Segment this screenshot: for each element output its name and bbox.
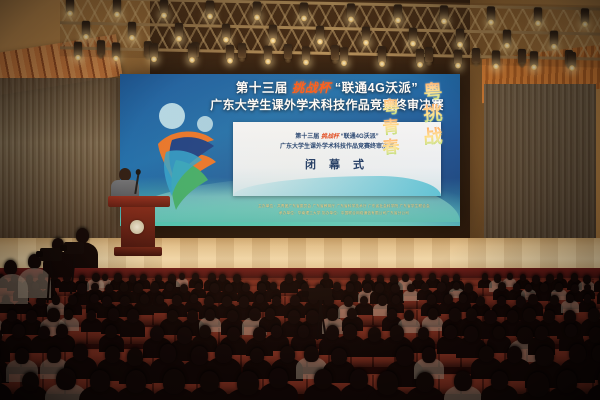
calligraphy-right-c2: 挑 xyxy=(415,103,450,128)
audience-member-head xyxy=(429,273,436,280)
stage-light xyxy=(347,3,355,18)
calligraphy-left-c2: 青 xyxy=(373,117,408,139)
audience-member-head xyxy=(557,370,577,392)
audience-member-head xyxy=(168,274,176,282)
audience-member-head xyxy=(525,284,532,292)
audience-member-head xyxy=(177,327,192,344)
audience-member-head xyxy=(407,284,415,293)
audience-member-head xyxy=(134,283,143,293)
audience-member-head xyxy=(90,370,110,393)
audience-member-head xyxy=(272,296,281,306)
audience-member-head xyxy=(180,284,188,293)
audience-member-head xyxy=(565,324,577,337)
stage-light xyxy=(238,43,246,58)
audience-member-head xyxy=(444,294,453,304)
audience-member-head xyxy=(583,275,591,284)
audience-member-head xyxy=(363,283,372,293)
audience-member-head xyxy=(543,310,555,323)
audience-member-head xyxy=(571,284,579,293)
audience-member-head xyxy=(377,371,398,394)
audience-member-head xyxy=(557,273,564,280)
banner-title-suffix: “联通4G沃派” xyxy=(335,81,418,95)
audience-member-head xyxy=(155,275,161,282)
audience-member-head xyxy=(571,273,578,281)
audience-member-head xyxy=(482,273,488,280)
audience-member-head xyxy=(56,324,68,338)
stage-light xyxy=(472,48,480,63)
audience-member-head xyxy=(237,371,259,395)
audience-member-head xyxy=(15,348,30,365)
audience-member-head xyxy=(120,282,129,292)
audience-member-head xyxy=(520,274,527,281)
audience-member-head xyxy=(404,310,414,322)
audience-member-head xyxy=(396,346,414,366)
audience-member-head xyxy=(391,284,400,294)
camera-crew-center xyxy=(300,288,350,354)
audience-member-head xyxy=(535,346,553,367)
calligraphy-left-c1: 粤 xyxy=(373,97,408,119)
audience-member-head xyxy=(453,274,460,282)
audience-member-head xyxy=(498,282,506,291)
audience-member-head xyxy=(365,274,371,281)
audience-member-head xyxy=(454,371,472,391)
audience-member-head xyxy=(163,369,185,393)
audience-member-head xyxy=(402,274,409,282)
stage-light xyxy=(362,27,370,42)
audience-member-head xyxy=(64,309,73,320)
audience-member-head xyxy=(108,308,120,321)
audience-member-head xyxy=(584,294,592,303)
audience-member-head xyxy=(464,283,473,293)
audience-member-head xyxy=(249,308,261,322)
audience-member-head xyxy=(285,274,293,283)
audience-member-head xyxy=(569,344,586,363)
stage-light xyxy=(503,30,511,45)
audience-member-head xyxy=(476,296,485,306)
audience-member-head xyxy=(421,283,428,291)
audience-member-head xyxy=(392,295,400,304)
audience-member-head xyxy=(566,294,575,304)
audience-member-head xyxy=(150,282,159,292)
stage-light xyxy=(425,47,433,62)
stage-light xyxy=(456,29,464,44)
stage-light xyxy=(206,0,214,15)
audience-member-head xyxy=(564,310,576,324)
audience-member-head xyxy=(375,283,384,293)
calligraphy-right-c1: 粤 xyxy=(415,81,450,106)
audience-member-head xyxy=(250,348,264,363)
audience-member-head xyxy=(179,273,185,280)
banner-title-cup: 挑战杯 xyxy=(292,81,331,95)
audience-member-head xyxy=(493,326,505,339)
podium-top xyxy=(108,196,170,207)
panel-cup: 挑战杯 xyxy=(321,134,339,140)
stage-light xyxy=(340,47,348,62)
stage-light xyxy=(302,46,310,61)
video-camera-icon xyxy=(64,242,84,254)
audience-member-head xyxy=(265,308,275,320)
audience-member-head xyxy=(127,348,143,366)
sponsor-line-2: 承办单位：华南理工大学 协办单位：中国联合网络通信有限公司广东省分公司 xyxy=(238,210,450,217)
stage-light xyxy=(175,23,183,38)
stage-light xyxy=(581,8,589,23)
stage-light xyxy=(378,48,386,63)
stage-light xyxy=(112,42,120,57)
audience-member-head xyxy=(453,282,460,290)
stage-light xyxy=(284,44,292,59)
audience-member-head xyxy=(428,308,438,319)
audience-member-head xyxy=(140,294,149,304)
audience-member-head xyxy=(256,294,264,303)
audience-member-head xyxy=(126,370,146,393)
audience-member-head xyxy=(555,283,562,291)
stage-light xyxy=(534,7,542,22)
panel-wave-graphic xyxy=(233,176,441,196)
audience-member-head xyxy=(167,310,178,323)
audience-member-head xyxy=(258,283,266,292)
audience-member-head xyxy=(449,308,461,322)
audience-member-head xyxy=(242,283,250,292)
audience-member-head xyxy=(588,308,600,322)
audience-member-head xyxy=(269,368,287,389)
video-camera-icon xyxy=(40,248,62,261)
stage-light xyxy=(269,25,277,40)
panel-prefix: 第十三届 xyxy=(295,134,319,140)
stage-backdrop-banner: 第十三届 挑战杯 “联通4G沃派” 广东大学生课外学术科技作品竞赛终审决赛 第十… xyxy=(120,74,460,226)
stage-light xyxy=(518,49,526,64)
audience-member-head xyxy=(210,283,219,293)
calligraphy-right-c3: 战 xyxy=(415,126,450,151)
audience-member-head xyxy=(390,325,404,341)
audience-member-head xyxy=(459,294,467,303)
audience-member-head xyxy=(127,309,139,323)
audience-member-head xyxy=(507,310,519,323)
audience-member-head xyxy=(314,369,332,389)
audience-member-head xyxy=(22,372,39,391)
audience-member-head xyxy=(288,310,300,323)
stage-light xyxy=(222,24,230,39)
audience-member-head xyxy=(172,295,182,306)
audience-member-head xyxy=(540,283,548,292)
audience-member-head xyxy=(387,309,397,320)
banner-sponsor-lines: 主办单位：共青团广东省委员会 广东省教育厅 广东省科学技术厅 广东省社会科学院 … xyxy=(238,203,450,217)
audience-member-head xyxy=(191,346,208,365)
audience-member-head xyxy=(261,275,268,283)
stage-light xyxy=(66,0,74,13)
audience-member-head xyxy=(444,325,457,340)
audience-member-head xyxy=(73,344,88,361)
audience-member-head xyxy=(199,325,211,338)
audience-member-head xyxy=(418,327,429,340)
audience-member-head xyxy=(427,294,437,305)
stage-light xyxy=(487,6,495,21)
audience-member-head xyxy=(532,275,540,284)
audience-member-head xyxy=(205,309,215,320)
audience-member-head xyxy=(484,310,497,324)
audience-member-head xyxy=(350,369,368,389)
audience-member-head xyxy=(56,368,76,390)
right-acoustic-slat-wall xyxy=(484,84,596,242)
audience-member-head xyxy=(47,347,61,363)
stage-light xyxy=(97,40,105,55)
stage-light xyxy=(416,49,424,64)
podium-base xyxy=(114,247,162,256)
stage-light xyxy=(150,43,158,58)
audience-member-head xyxy=(464,326,478,342)
banner-inner-panel: 第十三届 挑战杯 “联通4G沃派” 广东大学生课外学术科技作品竞赛终审决赛 闭 … xyxy=(233,122,441,196)
audience-member-head xyxy=(589,327,600,343)
audience-member-head xyxy=(280,346,295,363)
panel-closing-ceremony-text: 闭 幕 式 xyxy=(233,156,441,172)
stage-light xyxy=(530,51,538,66)
audience-member-head xyxy=(105,346,120,363)
audience-member-head xyxy=(550,295,559,305)
stage-light xyxy=(113,0,121,14)
stage-light xyxy=(550,31,558,46)
audience-member-head xyxy=(166,283,173,291)
stage-light xyxy=(128,22,136,37)
audience-member-head xyxy=(156,295,164,304)
stage-light xyxy=(264,46,272,61)
audience-member-head xyxy=(114,273,121,281)
stage-light xyxy=(316,26,324,41)
auditorium-photo: 第十三届 挑战杯 “联通4G沃派” 广东大学生课外学术科技作品竞赛终审决赛 第十… xyxy=(0,0,600,400)
audience-member-head xyxy=(290,295,300,306)
audience-member-head xyxy=(271,325,282,338)
audience-member-head xyxy=(227,310,238,322)
audience-member-head xyxy=(253,327,266,341)
audience-member-head xyxy=(222,296,232,307)
audience-member-head xyxy=(239,296,249,308)
audience-member-head xyxy=(422,347,436,363)
stage-light xyxy=(331,45,339,60)
calligraphy-left-column: 粤 青 春 xyxy=(374,98,408,158)
audience-member-head xyxy=(368,327,381,342)
audience-member-head xyxy=(129,275,136,283)
camera-crew-left xyxy=(2,220,110,306)
audience-member-head xyxy=(160,344,177,363)
audience-member-head xyxy=(592,345,600,362)
audience-member-head xyxy=(120,296,130,307)
audience-member-head xyxy=(507,273,513,280)
stage-light xyxy=(440,5,448,20)
audience-member-head xyxy=(150,326,164,342)
audience-member-head xyxy=(416,372,434,392)
panel-line2: 广东大学生课外学术科技作品竞赛终审决赛 xyxy=(233,141,441,150)
stage-light xyxy=(160,0,168,15)
audience-member-head xyxy=(225,284,233,292)
audience-member-head xyxy=(466,308,477,320)
audience-member-head xyxy=(523,308,536,322)
audience-member-head xyxy=(38,326,50,339)
wooden-podium xyxy=(108,196,170,258)
audience-member-head xyxy=(7,310,17,322)
stage-light xyxy=(74,42,82,57)
stage-light xyxy=(253,1,261,16)
audience-member-head xyxy=(208,273,216,282)
audience-member-head xyxy=(227,327,239,341)
audience-member-head xyxy=(497,296,506,306)
audience-member-head xyxy=(200,371,219,392)
stage-light xyxy=(300,2,308,17)
audience-member-head xyxy=(187,310,198,323)
audience-member-head xyxy=(528,294,538,305)
audience-member-head xyxy=(535,326,548,340)
audience-member-head xyxy=(87,310,97,321)
stage-light xyxy=(394,4,402,19)
audience-member-head xyxy=(491,371,508,391)
audience-member-head xyxy=(192,273,199,281)
stage-light xyxy=(82,21,90,36)
stage-light xyxy=(226,45,234,60)
stage-light xyxy=(188,44,196,59)
stage-light xyxy=(492,50,500,65)
audience-member-head xyxy=(47,308,59,322)
audience-member-head xyxy=(195,283,202,291)
audience-member-head xyxy=(415,274,421,281)
audience-member-head xyxy=(215,344,231,362)
audience-member-head xyxy=(437,282,446,292)
audience-member-head xyxy=(105,325,117,339)
audience-member-head xyxy=(350,274,358,283)
audience-member-head xyxy=(527,372,549,397)
video-camera-icon xyxy=(308,288,332,300)
calligraphy-right-column: 粤 挑 战 xyxy=(416,82,450,149)
audience-member-head xyxy=(479,346,494,362)
audience-member-head xyxy=(507,346,522,363)
audience-member-head xyxy=(190,294,198,303)
sponsor-line-1: 主办单位：共青团广东省委员会 广东省教育厅 广东省科学技术厅 广东省社会科学院 … xyxy=(238,203,450,210)
audience-member-head xyxy=(26,310,37,322)
overhead-lighting-truss xyxy=(60,0,600,68)
audience-member-head xyxy=(140,274,147,281)
stage-light xyxy=(568,52,576,67)
audience-member-head xyxy=(12,324,25,338)
stage-light xyxy=(454,50,462,65)
banner-title-prefix: 第十三届 xyxy=(236,81,288,95)
calligraphy-left-c3: 春 xyxy=(373,137,408,159)
audience-member-head xyxy=(378,295,387,305)
stage-light xyxy=(409,28,417,43)
university-crest-icon xyxy=(130,220,144,234)
